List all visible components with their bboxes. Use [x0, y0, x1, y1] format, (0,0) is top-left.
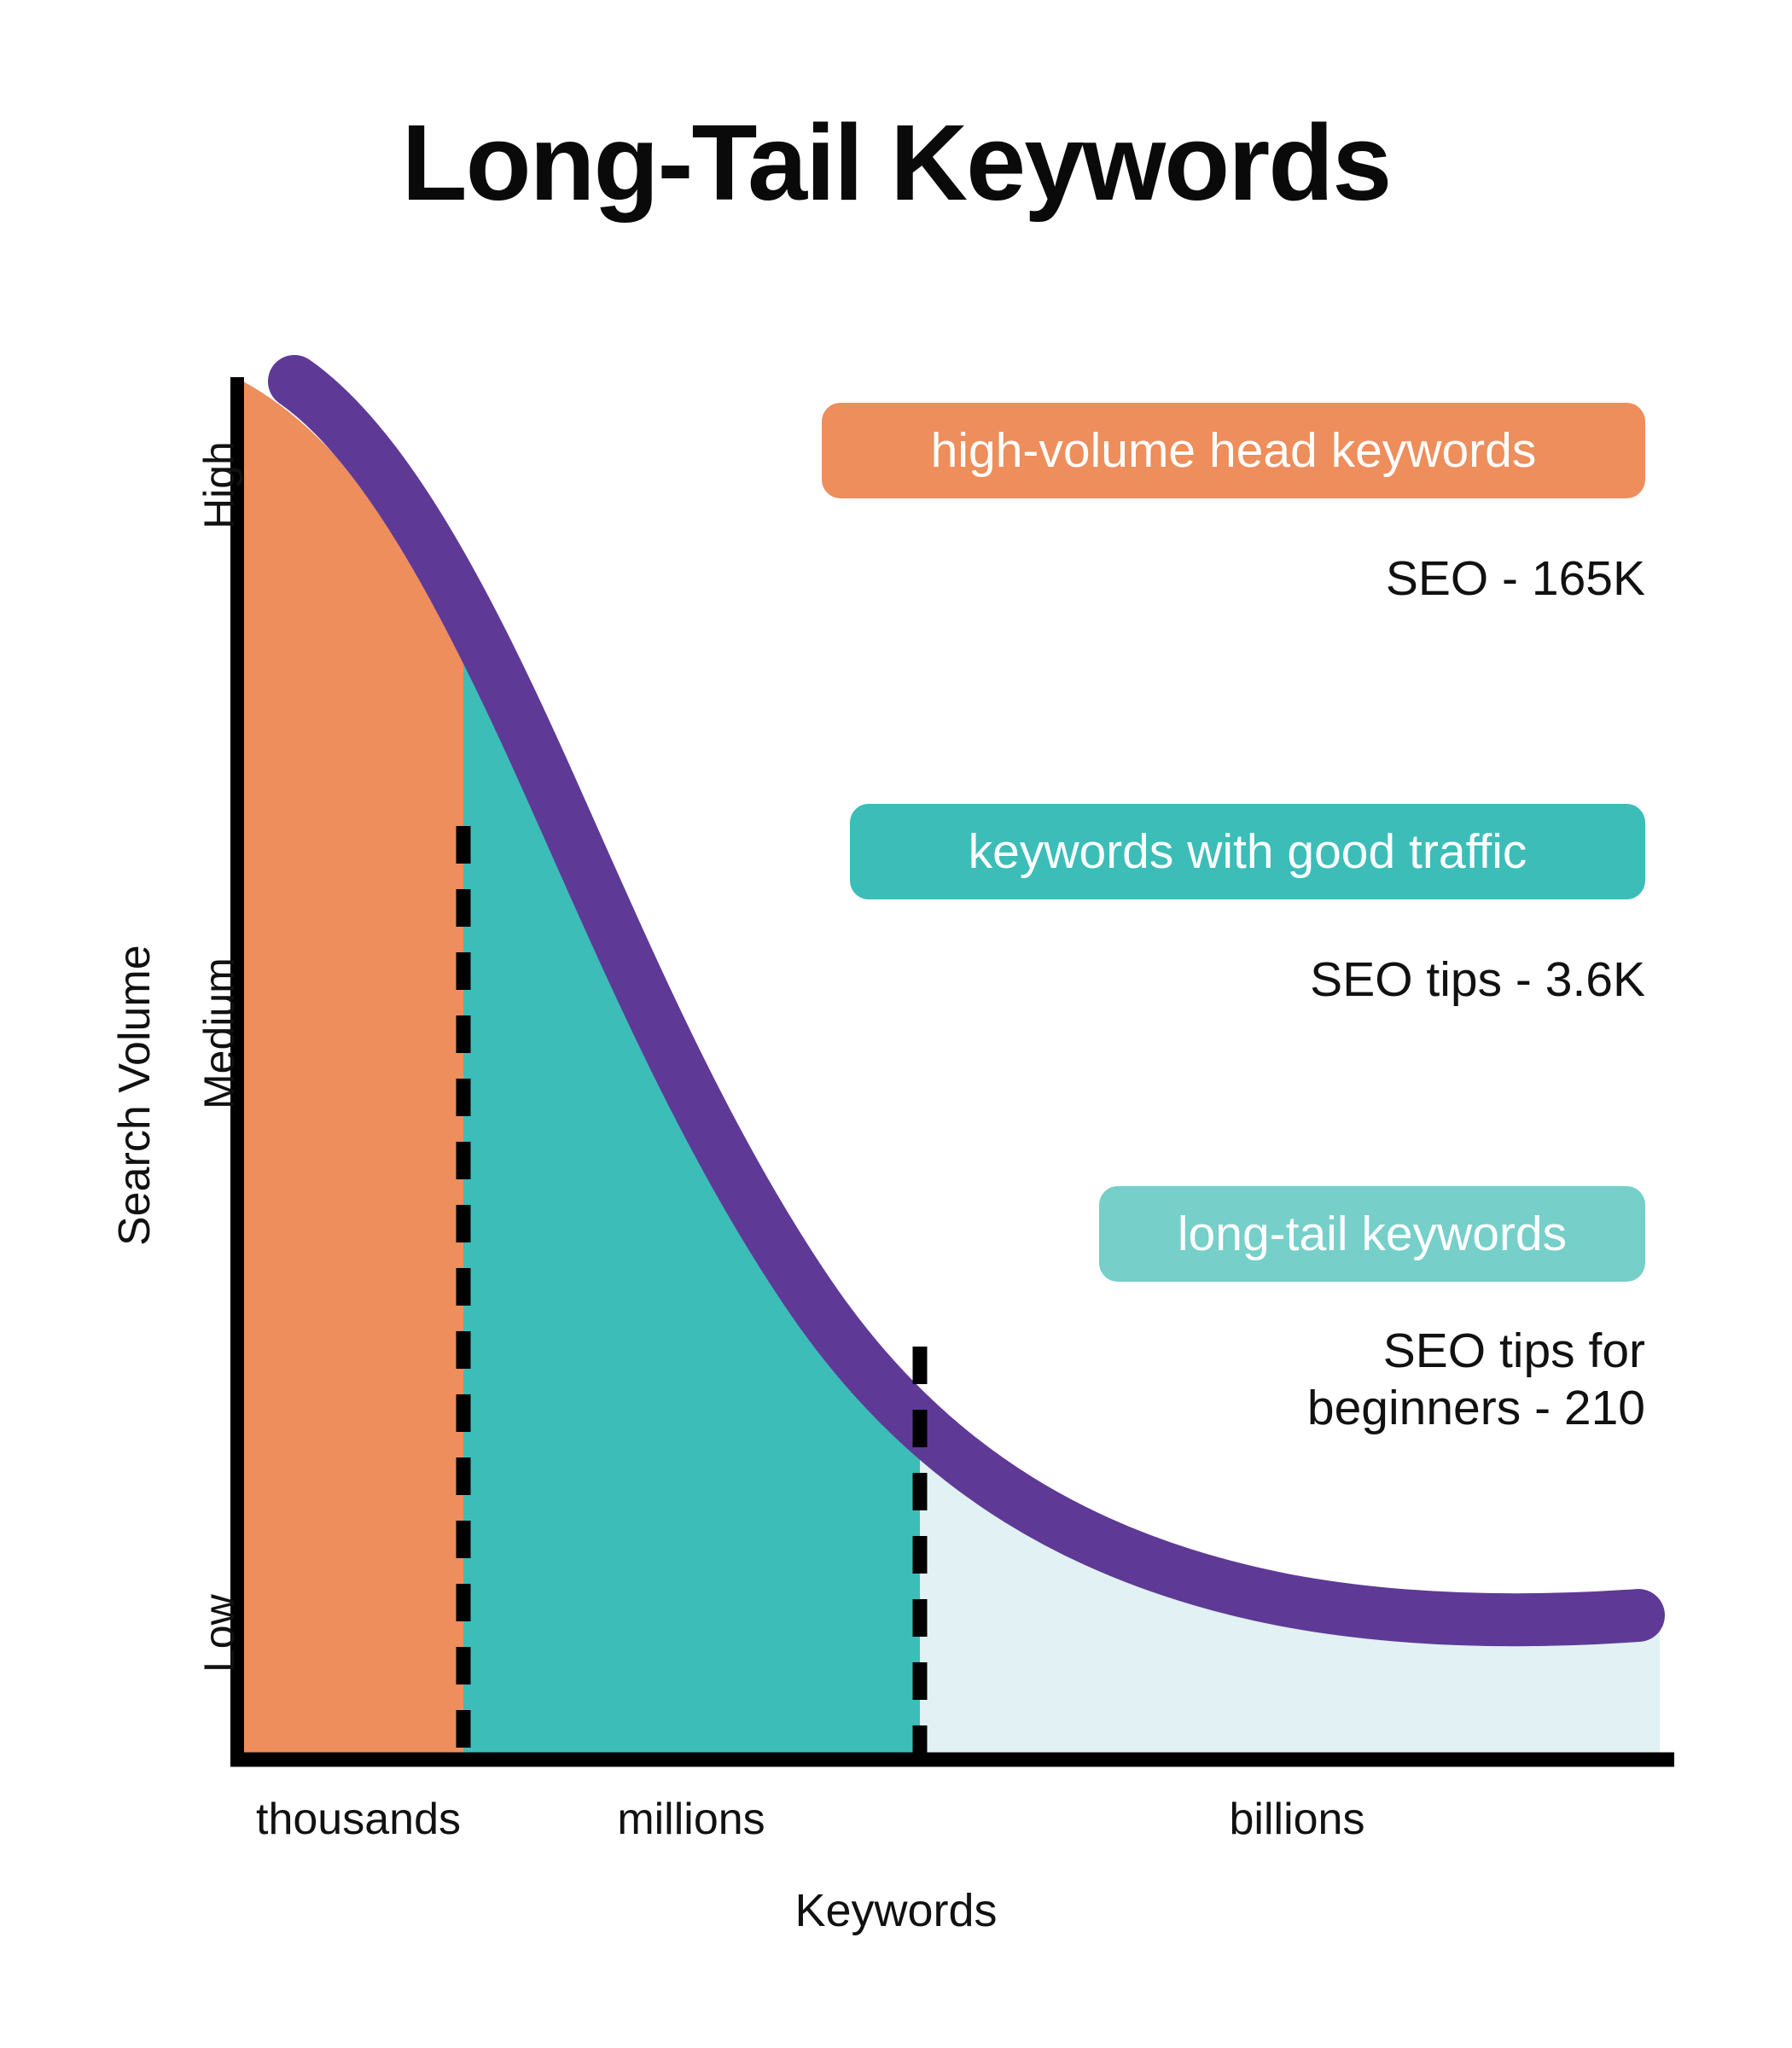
legend-value-good-traffic: SEO tips - 3.6K: [792, 951, 1645, 1009]
x-tick-millions: millions: [529, 1794, 853, 1845]
x-axis-title: Keywords: [0, 1884, 1792, 1937]
legend-value-head-keywords: SEO - 165K: [792, 550, 1645, 608]
chart-svg: [0, 0, 1792, 2048]
x-tick-thousands: thousands: [171, 1794, 546, 1845]
legend-value-long-tail: SEO tips for beginners - 210: [792, 1323, 1645, 1438]
y-tick-high: High: [195, 441, 244, 529]
y-axis-title: Search Volume: [109, 945, 160, 1246]
legend-pill-good-traffic[interactable]: keywords with good traffic: [850, 804, 1645, 899]
legend-pill-head-keywords[interactable]: high-volume head keywords: [822, 403, 1645, 498]
legend-pill-long-tail[interactable]: long-tail keywords: [1099, 1186, 1645, 1282]
y-tick-low: Low: [195, 1594, 244, 1673]
x-tick-billions: billions: [1109, 1794, 1485, 1845]
chart-plot-area: Search Volume High Medium Low thousands …: [0, 0, 1792, 2048]
y-tick-medium: Medium: [195, 957, 244, 1109]
